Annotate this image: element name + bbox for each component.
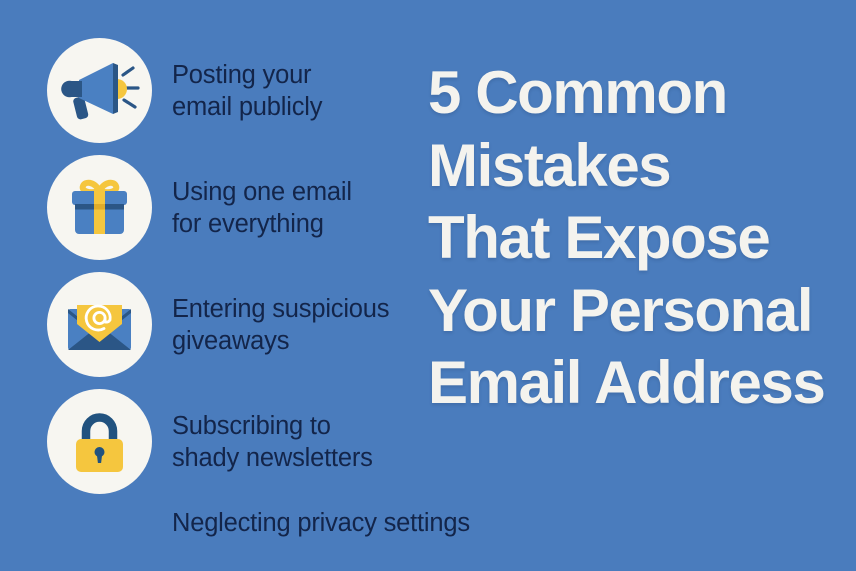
list-item: Entering suspicious giveaways	[47, 272, 389, 377]
list-item: Posting your email publicly	[47, 38, 322, 143]
list-item-label: Posting your email publicly	[172, 59, 322, 123]
list-item: Using one email for everything	[47, 155, 352, 260]
list-item-label: Entering suspicious giveaways	[172, 293, 389, 357]
envelope-at-icon	[47, 272, 152, 377]
list-item-label-extra: Neglecting privacy settings	[172, 507, 470, 539]
megaphone-icon	[47, 38, 152, 143]
padlock-icon	[47, 389, 152, 494]
list-item-label: Using one email for everything	[172, 176, 352, 240]
gift-icon	[47, 155, 152, 260]
page-title: 5 Common Mistakes That Expose Your Perso…	[428, 57, 848, 420]
list-item: Subscribing to shady newsletters	[47, 389, 373, 494]
checklist: Posting your email publicly	[0, 0, 430, 571]
list-item-label: Subscribing to shady newsletters	[172, 410, 373, 474]
infographic-poster: Posting your email publicly	[0, 0, 856, 571]
